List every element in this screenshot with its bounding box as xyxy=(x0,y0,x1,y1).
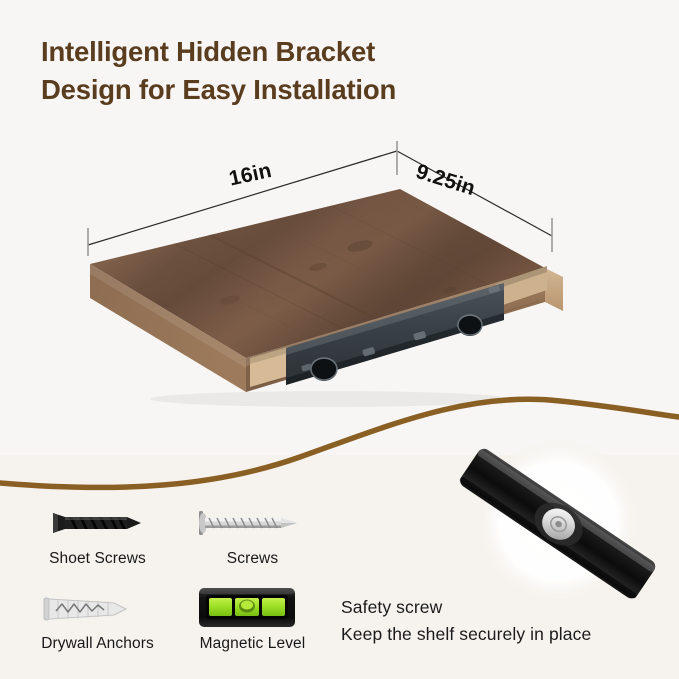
shelf-svg xyxy=(60,180,600,410)
drywall-anchor-icon xyxy=(34,587,154,631)
black-screw-icon xyxy=(37,500,157,546)
safety-screw-text: Safety screw Keep the shelf securely in … xyxy=(341,594,591,647)
accessory-label: Magnetic Level xyxy=(175,635,330,653)
accessory-screws: Screws xyxy=(175,500,330,568)
accessory-magnetic-level: Magnetic Level xyxy=(175,585,330,653)
shelf-illustration xyxy=(60,180,600,410)
headline-line-1: Intelligent Hidden Bracket xyxy=(41,36,375,67)
accessory-label: Drywall Anchors xyxy=(20,635,175,653)
headline-line-2: Design for Easy Installation xyxy=(41,71,641,109)
accessory-shoet-screws: Shoet Screws xyxy=(20,500,175,568)
product-infographic: Intelligent Hidden Bracket Design for Ea… xyxy=(0,0,679,679)
silver-screw-icon xyxy=(187,500,317,546)
safety-subtitle: Keep the shelf securely in place xyxy=(341,621,591,648)
safety-screw-closeup xyxy=(437,440,679,615)
magnetic-level-icon xyxy=(198,586,308,630)
level-vial-left xyxy=(209,598,232,616)
accessory-drywall-anchors: Drywall Anchors xyxy=(20,585,175,653)
accessory-label: Screws xyxy=(175,550,330,568)
level-vial-right xyxy=(262,598,285,616)
shelf-core-endcap xyxy=(545,268,563,311)
accessories-grid: Shoet Screws xyxy=(20,500,330,665)
page-title: Intelligent Hidden Bracket Design for Ea… xyxy=(41,33,641,109)
accessory-label: Shoet Screws xyxy=(20,550,175,568)
safety-title: Safety screw xyxy=(341,594,591,621)
